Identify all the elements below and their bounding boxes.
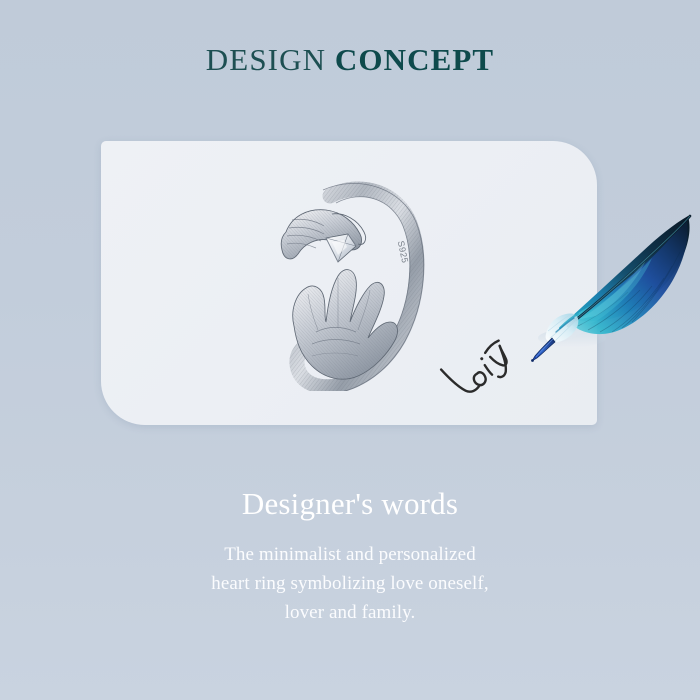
design-concept-page: DESIGN CONCEPT	[0, 0, 700, 700]
page-title-bold: CONCEPT	[335, 42, 494, 77]
ring-sketch-illustration: S925	[272, 176, 437, 391]
designer-words-line: The minimalist and personalized	[0, 540, 700, 569]
page-title: DESIGN CONCEPT	[0, 44, 700, 75]
designer-words-line: lover and family.	[0, 598, 700, 627]
designer-words-section: Designer's words The minimalist and pers…	[0, 484, 700, 627]
designer-words-heading: Designer's words	[0, 484, 700, 524]
page-title-regular: DESIGN	[206, 42, 326, 77]
designer-words-body: The minimalist and personalized heart ri…	[0, 540, 700, 627]
designer-words-line: heart ring symbolizing love oneself,	[0, 569, 700, 598]
page-title-space	[326, 42, 335, 77]
